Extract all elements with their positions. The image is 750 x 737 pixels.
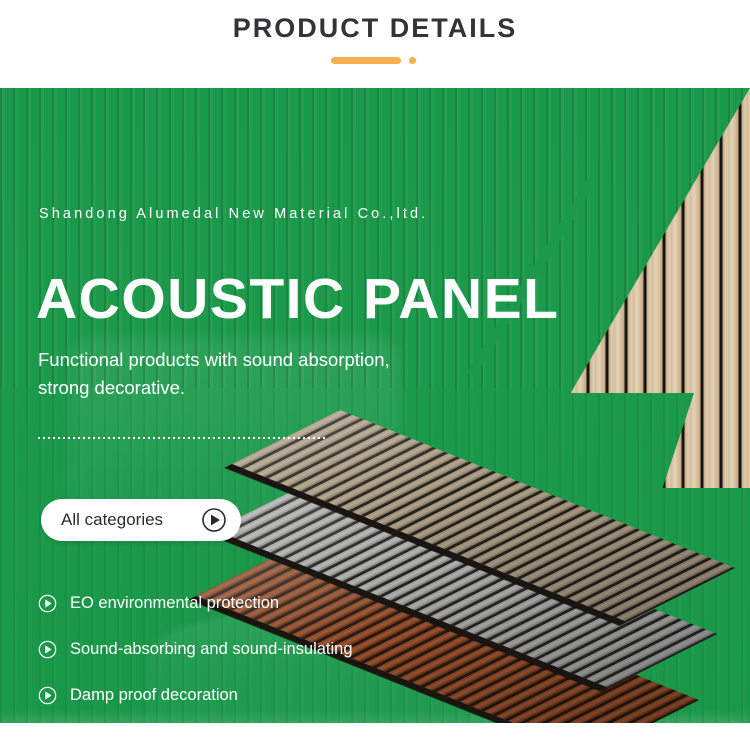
all-categories-label: All categories bbox=[61, 510, 201, 530]
hero-banner: Shandong Alumedal New Material Co.,ltd. … bbox=[0, 88, 750, 723]
list-item: Sound-absorbing and sound-insulating bbox=[38, 637, 353, 661]
circle-arrow-right-icon bbox=[201, 507, 227, 533]
feature-label: Sound-absorbing and sound-insulating bbox=[70, 640, 353, 659]
feature-label: EO environmental protection bbox=[70, 594, 279, 613]
subtitle-line-1: Functional products with sound absorptio… bbox=[38, 346, 390, 374]
dotted-divider bbox=[38, 437, 326, 439]
title-accent bbox=[0, 55, 750, 67]
all-categories-button[interactable]: All categories bbox=[41, 499, 241, 541]
accent-bar bbox=[331, 57, 401, 64]
feature-label: Damp proof decoration bbox=[70, 686, 238, 705]
header-bar: PRODUCT DETAILS bbox=[0, 0, 750, 88]
list-item: Damp proof decoration bbox=[38, 683, 353, 707]
circle-arrow-right-icon bbox=[38, 640, 57, 659]
product-subtitle: Functional products with sound absorptio… bbox=[38, 346, 390, 402]
page-title: PRODUCT DETAILS bbox=[0, 13, 750, 44]
circle-arrow-right-icon bbox=[38, 594, 57, 613]
product-title: ACOUSTIC PANEL bbox=[36, 271, 559, 328]
bottom-white-strip bbox=[0, 723, 750, 737]
accent-dot bbox=[409, 57, 416, 64]
product-panel-stack bbox=[300, 388, 750, 723]
company-name: Shandong Alumedal New Material Co.,ltd. bbox=[39, 206, 428, 222]
circle-arrow-right-icon bbox=[38, 686, 57, 705]
subtitle-line-2: strong decorative. bbox=[38, 374, 390, 402]
list-item: EO environmental protection bbox=[38, 591, 353, 615]
product-details-banner: PRODUCT DETAILS bbox=[0, 0, 750, 737]
feature-list: EO environmental protection Sound-absorb… bbox=[38, 591, 353, 723]
